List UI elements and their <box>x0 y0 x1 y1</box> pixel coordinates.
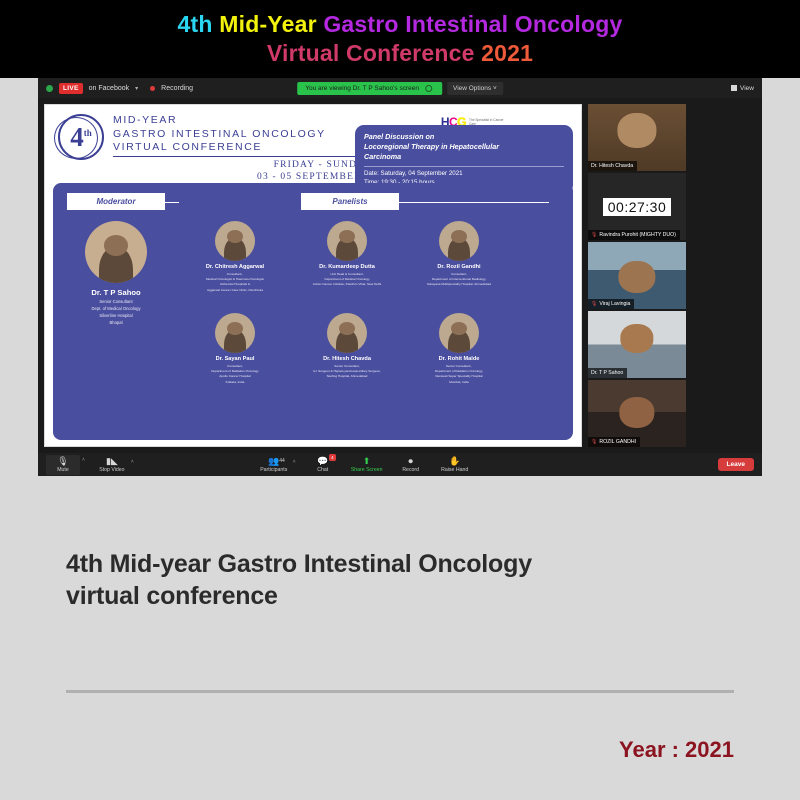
moderator-name: Dr. T P Sahoo <box>67 288 165 298</box>
panelist-hospital: Apollo Cancer Hospital <box>181 374 289 378</box>
banner-line-1: 4th Mid-Year Gastro Intestinal Oncology <box>178 10 623 39</box>
caption-year: Year : 2021 <box>619 737 734 763</box>
recording-dot-icon <box>150 86 155 91</box>
shared-screen-area: 4th Mid-Year Gastro Intestinal Oncology … <box>38 98 586 453</box>
share-screen-button[interactable]: ⬆ Share Screen <box>350 457 384 473</box>
panelist-card: Dr. Chitresh Aggarwal Consultant , Medic… <box>181 221 289 292</box>
live-badge: LIVE <box>59 83 83 94</box>
panelists-grid: Dr. Chitresh Aggarwal Consultant , Medic… <box>181 213 565 436</box>
view-options-button[interactable]: View Options ˅ <box>447 82 503 95</box>
session-divider <box>364 166 564 167</box>
panelist-dept: Department of Radiation Oncology <box>181 369 289 373</box>
mute-button[interactable]: 🎙 Mute <box>46 455 80 475</box>
avatar <box>215 221 255 261</box>
panelists-tab-label: Panelists <box>301 193 399 210</box>
zoom-meeting-window: LIVE on Facebook ▾ Recording You are vie… <box>38 78 762 476</box>
leave-meeting-button[interactable]: Leave <box>718 458 754 471</box>
video-tile-label: Dr. T P Sahoo <box>588 368 627 378</box>
banner-midyear: Mid-Year <box>219 11 316 37</box>
caption-title-line-2: virtual conference <box>66 580 734 612</box>
video-tile-timer[interactable]: 00:27:30 🎙 Ravindra Purohit (MIGHTY DUO) <box>588 173 686 240</box>
participants-chevron-icon[interactable]: ˄ <box>293 459 296 465</box>
panelist-name: Dr. Hitesh Chavda <box>293 356 401 363</box>
record-circle-icon: ⏺ <box>408 457 413 466</box>
chat-unread-badge: 4 <box>329 454 336 461</box>
panelist-hospital: Nanavati Super Speciality Hospital <box>405 374 513 378</box>
viewing-screen-banner: You are viewing Dr. T P Sahoo's screen <box>297 82 442 95</box>
banner-virtual-conf: Virtual Conference <box>267 40 475 66</box>
view-layout-button[interactable]: View <box>731 85 754 92</box>
panelist-city: Mumbai, India <box>405 380 513 384</box>
video-tile-rozil-gandhi[interactable]: 🎙 ROZIL GANDHI <box>588 380 686 447</box>
panelist-name: Dr. Sayan Paul <box>181 356 289 363</box>
banner-edition: 4th <box>178 11 213 37</box>
panelist-card: Dr. Hitesh Chavda Senior Consultant, G.I… <box>293 313 401 380</box>
avatar <box>85 221 147 283</box>
participants-count: 44 <box>279 458 285 464</box>
people-icon: 👥 <box>268 457 279 466</box>
caption-title-line-1: 4th Mid-year Gastro Intestinal Oncology <box>66 548 734 580</box>
panelist-dept: Department of Interventional Radiology, <box>405 277 513 281</box>
muted-mic-icon: 🎙 <box>591 232 597 238</box>
panelists-connector <box>399 202 549 203</box>
video-tile-label: 🎙 Viraj Lavingia <box>588 299 634 309</box>
panelist-hospital: Alchemist Hospitals & <box>181 282 289 286</box>
avatar <box>327 313 367 353</box>
screen-share-notice: You are viewing Dr. T P Sahoo's screen V… <box>297 82 503 95</box>
video-tile-viraj-lavingia[interactable]: 🎙 Viraj Lavingia <box>588 242 686 309</box>
panelist-dept: Medical Oncologist & Haemato-Oncologist <box>181 277 289 281</box>
microphone-icon: 🎙 <box>57 457 68 466</box>
panelist-dept: G.I Surgeon & Hepato-pancreato-biliary S… <box>293 369 401 373</box>
video-options-chevron-icon[interactable]: ˄ <box>131 459 134 465</box>
countdown-timer: 00:27:30 <box>603 198 672 216</box>
panelist-card: Dr. Rozil Gandhi Consultant, Department … <box>405 221 513 288</box>
live-target-label: on Facebook <box>89 85 129 92</box>
video-tile-hitesh-chavda[interactable]: Dr. Hitesh Chavda <box>588 104 686 171</box>
panelist-card: Dr. Kumardeep Dutta Unit Head & Consulta… <box>293 221 401 288</box>
raise-hand-button[interactable]: ✋ Raise Hand <box>438 457 472 473</box>
zoom-bottom-toolbar: 🎙 Mute ˄ ▮◣ Stop Video ˄ 👥 44 Participan… <box>38 453 762 476</box>
chat-bubble-icon: 💬 <box>317 457 328 466</box>
moderator-tab-label: Moderator <box>67 193 165 210</box>
participant-video-strip[interactable]: Dr. Hitesh Chavda 00:27:30 🎙 Ravindra Pu… <box>586 98 692 453</box>
record-button[interactable]: ⏺ Record <box>394 457 428 473</box>
panelist-name: Dr. Kumardeep Dutta <box>293 264 401 271</box>
muted-mic-icon: 🎙 <box>591 301 597 307</box>
caption-block: 4th Mid-year Gastro Intestinal Oncology … <box>66 548 734 612</box>
viewing-screen-text: You are viewing Dr. T P Sahoo's screen <box>305 85 419 92</box>
video-tile-label: 🎙 Ravindra Purohit (MIGHTY DUO) <box>588 230 680 240</box>
panelist-role: Senior Consultant , <box>405 364 513 368</box>
banner-subject: Gastro Intestinal Oncology <box>323 11 622 37</box>
panelist-name: Dr. Rohit Malde <box>405 356 513 363</box>
edition-badge: 4th <box>53 111 109 163</box>
video-tile-tp-sahoo[interactable]: Dr. T P Sahoo <box>588 311 686 378</box>
center-toolbar-group: 👥 44 Participants ˄ 💬 4 Chat ⬆ Share Scr… <box>257 457 472 473</box>
edition-number: 4 <box>70 122 84 152</box>
panelist-hospital: Narayana Multispeciality Hospital, Ahmed… <box>405 282 513 286</box>
moderator-card: Dr. T P Sahoo Senior Consultant Dept. of… <box>67 221 165 326</box>
participants-button[interactable]: 👥 44 Participants <box>257 457 291 473</box>
avatar <box>439 221 479 261</box>
grid-view-icon <box>731 85 737 91</box>
audio-options-chevron-icon[interactable]: ˄ <box>82 457 85 463</box>
speakers-panel: Moderator Panelists Dr. T P Sahoo Senior… <box>53 183 573 440</box>
fullscreen-icon[interactable] <box>425 85 432 92</box>
mute-group[interactable]: 🎙 Mute ˄ <box>46 455 85 475</box>
banner-year: 2021 <box>481 40 533 66</box>
panelist-card: Dr. Rohit Malde Senior Consultant , Depa… <box>405 313 513 384</box>
video-tile-label: 🎙 ROZIL GANDHI <box>588 437 640 447</box>
zoom-top-bar: LIVE on Facebook ▾ Recording You are vie… <box>38 78 762 98</box>
panelist-hospital: Sterling Hospital, Ahmedabad <box>293 374 401 378</box>
banner-line-2: Virtual Conference 2021 <box>267 39 533 68</box>
edition-suffix: th <box>84 128 92 138</box>
avatar <box>327 221 367 261</box>
video-camera-icon: ▮◣ <box>106 457 118 466</box>
video-group[interactable]: ▮◣ Stop Video ˄ <box>95 457 134 473</box>
session-topic-1: Locoregional Therapy in Hepatocellular <box>364 142 564 152</box>
moderator-dept: Dept. of Medical Oncology <box>67 306 165 312</box>
panelist-card: Dr. Sayan Paul Consultant, Department of… <box>181 313 289 384</box>
panelist-name: Dr. Rozil Gandhi <box>405 264 513 271</box>
session-topic-2: Carcinoma <box>364 152 564 162</box>
session-date: Date: Saturday, 04 September 2021 <box>364 170 564 179</box>
avatar <box>439 313 479 353</box>
avatar <box>215 313 255 353</box>
participants-group[interactable]: 👥 44 Participants ˄ <box>257 457 296 473</box>
panelist-role: Senior Consultant, <box>293 364 401 368</box>
panelist-role: Consultant , <box>181 272 289 276</box>
chevron-down-icon[interactable]: ▾ <box>135 85 138 92</box>
share-screen-icon: ⬆ <box>363 457 371 466</box>
panelist-role: Consultant, <box>405 272 513 276</box>
moderator-hospital: Silverline Hospital <box>67 313 165 319</box>
muted-mic-icon: 🎙 <box>591 439 597 445</box>
panelist-city: Aggarwal Cancer Care Clinic, Panchkula <box>181 288 289 292</box>
encryption-shield-icon <box>46 85 53 92</box>
chat-button[interactable]: 💬 4 Chat <box>306 457 340 473</box>
session-heading: Panel Discussion on <box>364 132 564 142</box>
panelist-role: Consultant, <box>181 364 289 368</box>
conference-banner: 4th Mid-Year Gastro Intestinal Oncology … <box>0 0 800 78</box>
video-tile-label: Dr. Hitesh Chavda <box>588 161 637 171</box>
panelist-dept: Department of Medical Oncology <box>293 277 401 281</box>
raise-hand-icon: ✋ <box>449 457 460 466</box>
zoom-meeting-body: 4th Mid-Year Gastro Intestinal Oncology … <box>38 98 762 453</box>
stop-video-button[interactable]: ▮◣ Stop Video <box>95 457 129 473</box>
conference-slide: 4th Mid-Year Gastro Intestinal Oncology … <box>44 104 582 447</box>
panelist-name: Dr. Chitresh Aggarwal <box>181 264 289 271</box>
moderator-city: Bhopal <box>67 320 165 326</box>
panelist-hospital: Action Cancer Institute, Paschim Vihar, … <box>293 282 401 286</box>
moderator-connector <box>165 202 179 203</box>
panelist-dept: Department of Radiation Oncology, <box>405 369 513 373</box>
panelist-role: Unit Head & Consultant, <box>293 272 401 276</box>
moderator-role: Senior Consultant <box>67 299 165 305</box>
recording-label: Recording <box>161 85 193 92</box>
caption-divider <box>66 690 734 693</box>
panelist-city: Kolkata, India <box>181 380 289 384</box>
